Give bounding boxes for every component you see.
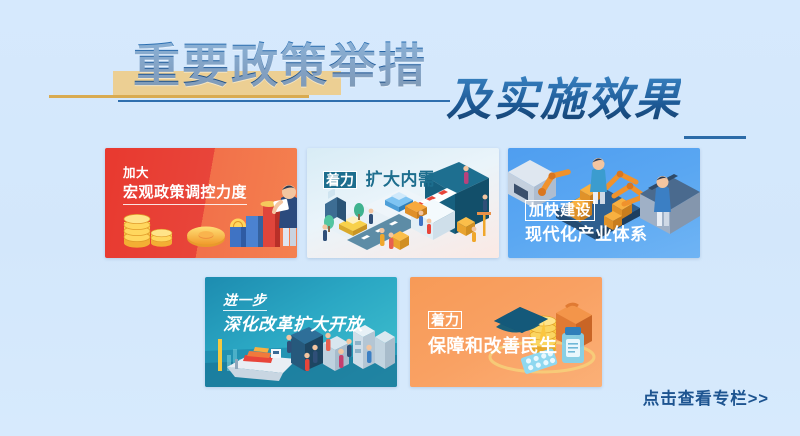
card1-line2: 宏观政策调控力度 <box>123 184 247 204</box>
card-improve-livelihood[interactable]: 着力 保障和改善民生 <box>410 277 602 387</box>
card-expand-domestic-demand[interactable]: 着力 扩大内需 <box>307 148 499 258</box>
page-title: 重要政策举措 <box>133 38 427 96</box>
page-subtitle: 及实施效果 <box>446 72 681 127</box>
page-header: 重要政策举措 及实施效果 <box>0 38 800 133</box>
card1-line1: 加大 <box>123 166 247 181</box>
illustration-isometric-city <box>307 148 499 258</box>
card4-label: 进一步 深化改革扩大开放 <box>223 291 363 336</box>
card3-label: 加快建设 现代化产业体系 <box>525 200 648 246</box>
card4-line2: 深化改革扩大开放 <box>223 315 363 336</box>
card-modern-industrial-system[interactable]: 加快建设 现代化产业体系 <box>508 148 700 258</box>
card-macro-policy[interactable]: 加大 宏观政策调控力度 <box>105 148 297 258</box>
view-column-link[interactable]: 点击查看专栏>> <box>643 385 769 409</box>
card5-line1: 着力 <box>428 311 462 329</box>
card1-label: 加大 宏观政策调控力度 <box>123 166 247 205</box>
blue-rule <box>684 136 746 139</box>
card3-line1: 加快建设 <box>529 202 591 219</box>
card4-line1: 进一步 <box>223 292 267 311</box>
card5-line2: 保障和改善民生 <box>428 336 558 358</box>
card5-label: 着力 保障和改善民生 <box>428 311 558 357</box>
card2-line1: 着力 <box>323 171 357 189</box>
card2-label: 着力 扩大内需 <box>323 170 435 191</box>
card2-line2: 扩大内需 <box>365 170 435 191</box>
page-background: 重要政策举措 及实施效果 <box>0 0 800 436</box>
card-deepen-reform-opening[interactable]: 进一步 深化改革扩大开放 <box>205 277 397 387</box>
card3-line2: 现代化产业体系 <box>525 225 648 246</box>
title-underline <box>118 100 450 102</box>
